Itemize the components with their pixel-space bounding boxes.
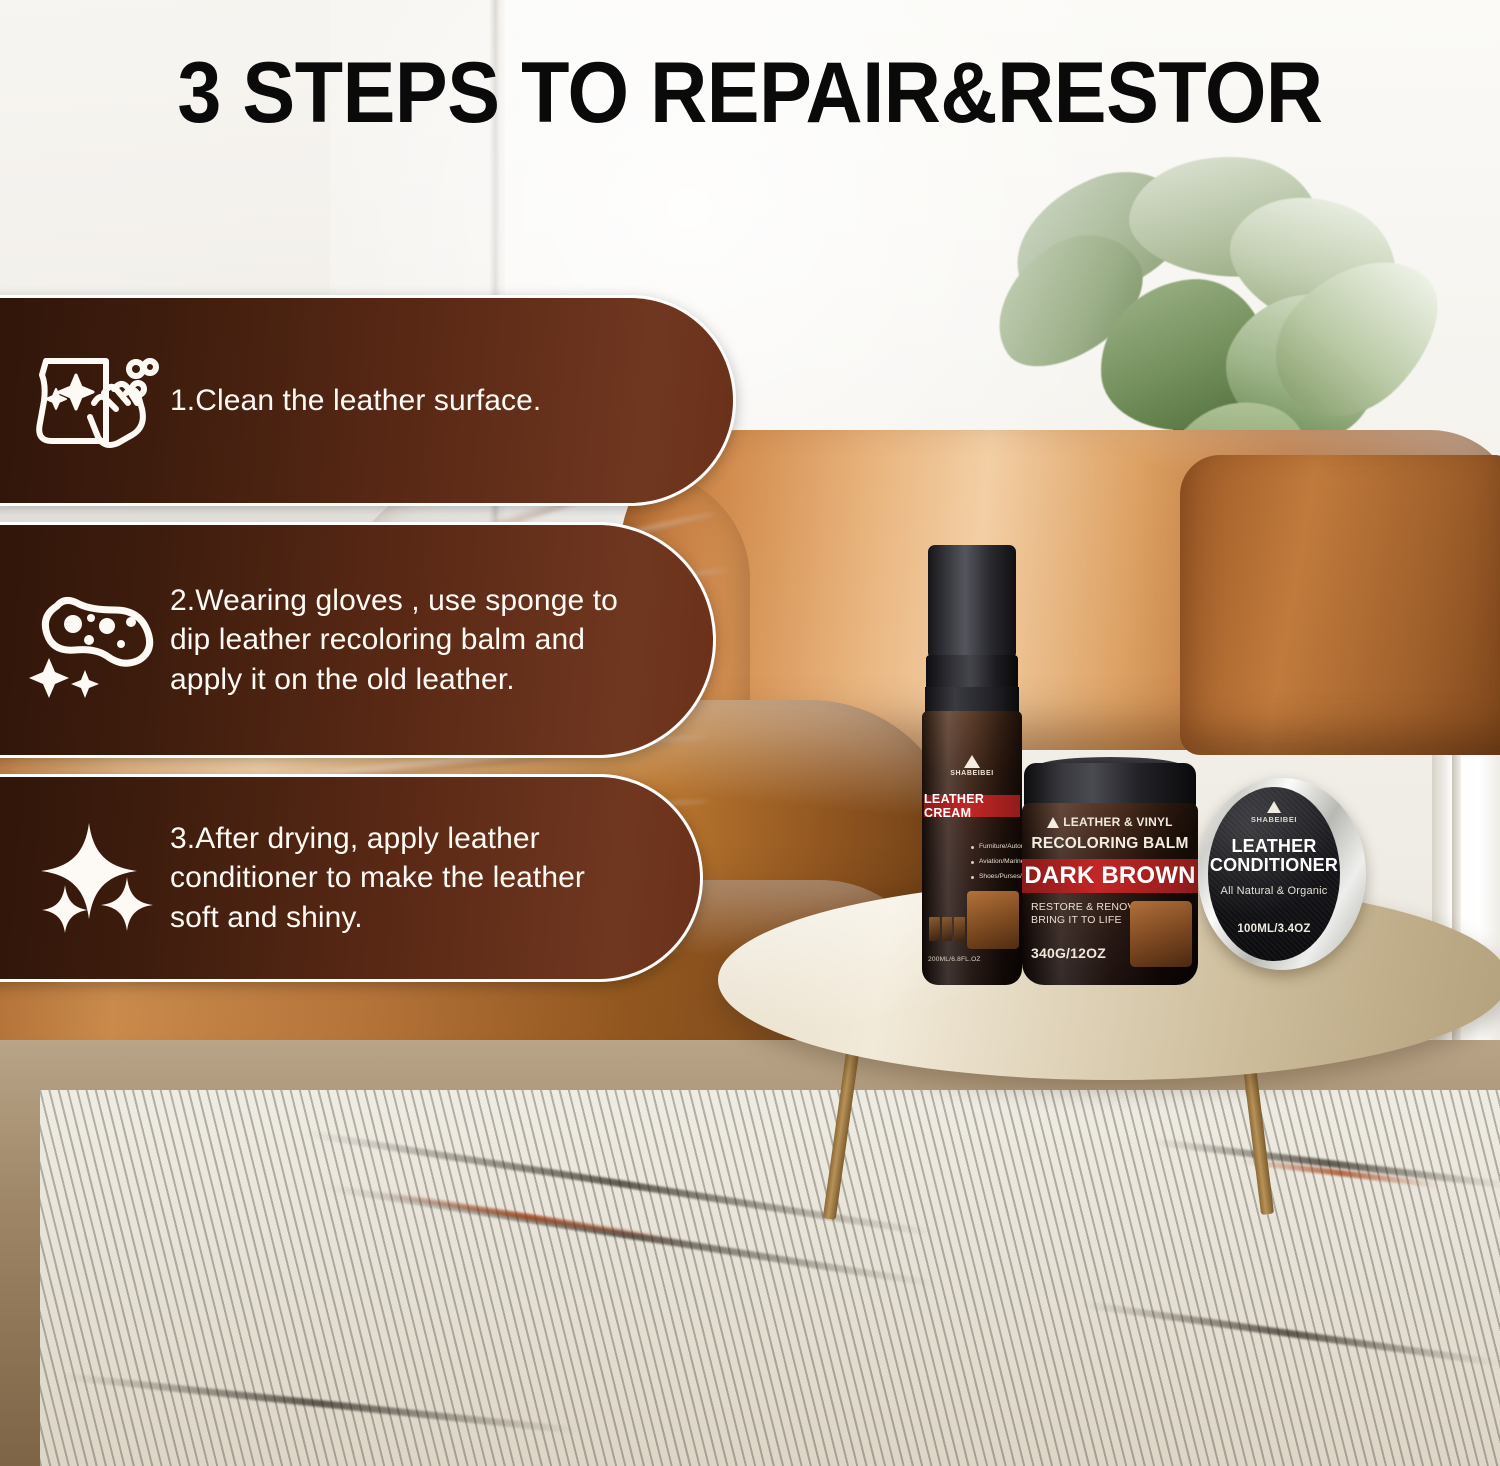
bullet-item: Aviation/Marine [971,858,1022,865]
tin-product-name: LEATHER CONDITIONER [1208,837,1340,875]
label-chair-image [967,891,1019,949]
tin-label: SHABEIBEI LEATHER CONDITIONER All Natura… [1208,787,1340,961]
jar-line-1: LEATHER & VINYL [1022,815,1198,829]
bottle-label: SHABEIBEI LEATHER CREAM Furniture/Automo… [922,711,1022,985]
step-1-text: 1.Clean the leather surface. [170,381,611,421]
jar-volume: 340G/12OZ [1031,945,1106,961]
jar-shade-name: DARK BROWN [1022,859,1198,893]
bullet-item: Shoes/Purses/Apparel [971,873,1022,880]
leather-cream-bottle: SHABEIBEI LEATHER CREAM Furniture/Automo… [916,545,1028,985]
recoloring-balm-jar: LEATHER & VINYL RECOLORING BALM DARK BRO… [1022,763,1198,985]
jar-label: LEATHER & VINYL RECOLORING BALM DARK BRO… [1022,803,1198,985]
step-panel-3: 3.After drying, apply leather conditione… [0,774,703,982]
brand-name: SHABEIBEI [1251,815,1297,824]
step-3-text: 3.After drying, apply leather conditione… [170,819,700,938]
brand-mark-icon [964,755,980,768]
brand-mark-icon [1267,801,1281,813]
step-2-text: 2.Wearing gloves , use sponge to dip lea… [170,581,713,700]
sponge-icon [20,582,170,698]
leather-conditioner-tin: SHABEIBEI LEATHER CONDITIONER All Natura… [1198,778,1366,970]
brand-logo: SHABEIBEI [922,755,1022,777]
bottle-cap [928,545,1016,657]
tin-volume: 100ML/3.4OZ [1208,923,1340,935]
brand-logo: SHABEIBEI [1208,801,1340,824]
cleaning-cloth-hand-icon [20,345,170,457]
sparkles-icon [20,819,170,937]
step-panel-1: 1.Clean the leather surface. [0,295,736,506]
jar-line-1-text: LEATHER & VINYL [1063,815,1172,829]
step-panel-2: 2.Wearing gloves , use sponge to dip lea… [0,522,716,758]
tin-subtitle: All Natural & Organic [1208,885,1340,897]
jar-chair-image [1130,901,1192,967]
brand-mark-icon [1047,817,1059,828]
bullet-item: Furniture/Automotive [971,843,1022,850]
jar-line-2: RECOLORING BALM [1022,835,1198,853]
product-infographic: SHABEIBEI LEATHER CREAM Furniture/Automo… [0,0,1500,1466]
bottle-collar [926,655,1018,691]
product-name: LEATHER CREAM [924,795,1020,817]
page-title: 3 STEPS TO REPAIR&RESTOR [60,44,1440,143]
product-bullets: Furniture/Automotive Aviation/Marine Sho… [931,843,1022,888]
brand-name: SHABEIBEI [950,770,994,777]
bottle-neck [925,687,1019,713]
product-volume: 200ML/6.8FL.OZ [928,956,981,963]
tips-banner: TIPS： Not suitable for suede leather whi… [0,1112,1500,1412]
